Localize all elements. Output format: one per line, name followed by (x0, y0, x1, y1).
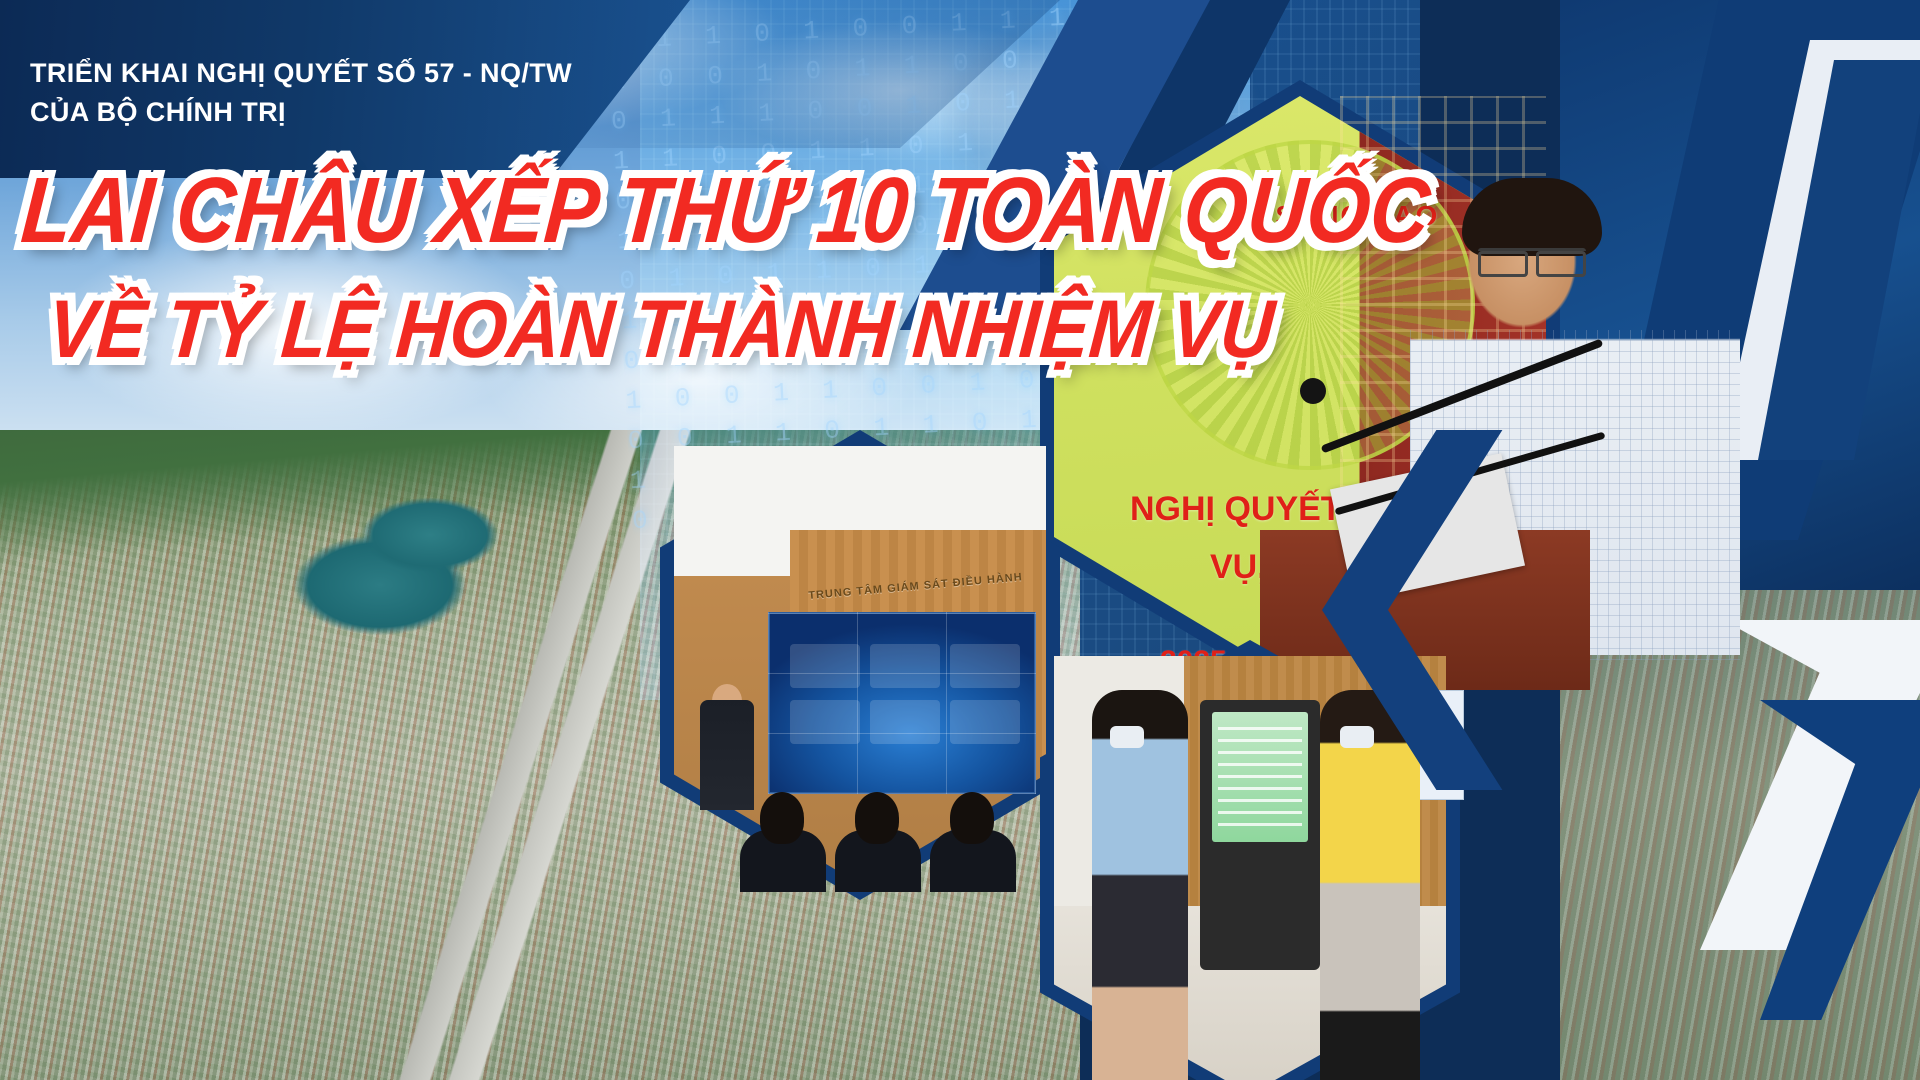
kicker-text: TRIỂN KHAI NGHỊ QUYẾT SỐ 57 - NQ/TW CỦA … (30, 54, 670, 132)
headline-line-2: về tỷ lệ hoàn thành nhiệm vụ (44, 282, 1090, 378)
kicker-line-2: CỦA BỘ CHÍNH TRỊ (30, 93, 670, 132)
video-wall-bezels (768, 612, 1036, 794)
chevron-decor-g (1840, 540, 1920, 970)
citizen-person (1320, 690, 1420, 1080)
kicker-line-1: TRIỂN KHAI NGHỊ QUYẾT SỐ 57 - NQ/TW (30, 54, 670, 93)
speaker-glasses (1478, 248, 1586, 268)
microphone-head (1300, 378, 1326, 404)
staff-face-mask (1110, 726, 1144, 748)
audience-head (950, 792, 994, 844)
kiosk-screen-content (1218, 726, 1302, 826)
audience-head (855, 792, 899, 844)
audience-group (740, 782, 1050, 892)
headline-block: Lai Châu xếp thứ 10 toàn quốc về tỷ lệ h… (22, 160, 1202, 378)
headline-line-1: Lai Châu xếp thứ 10 toàn quốc (18, 160, 1064, 260)
audience-head (760, 792, 804, 844)
citizen-face-mask (1340, 726, 1374, 748)
staff-person (1092, 690, 1188, 1080)
speaker-hair (1462, 178, 1602, 256)
infographic-banner: 0 1 1 0 1 0 0 1 1 1 0 1 1 0 0 1 0 1 1 0 … (0, 0, 1920, 1080)
